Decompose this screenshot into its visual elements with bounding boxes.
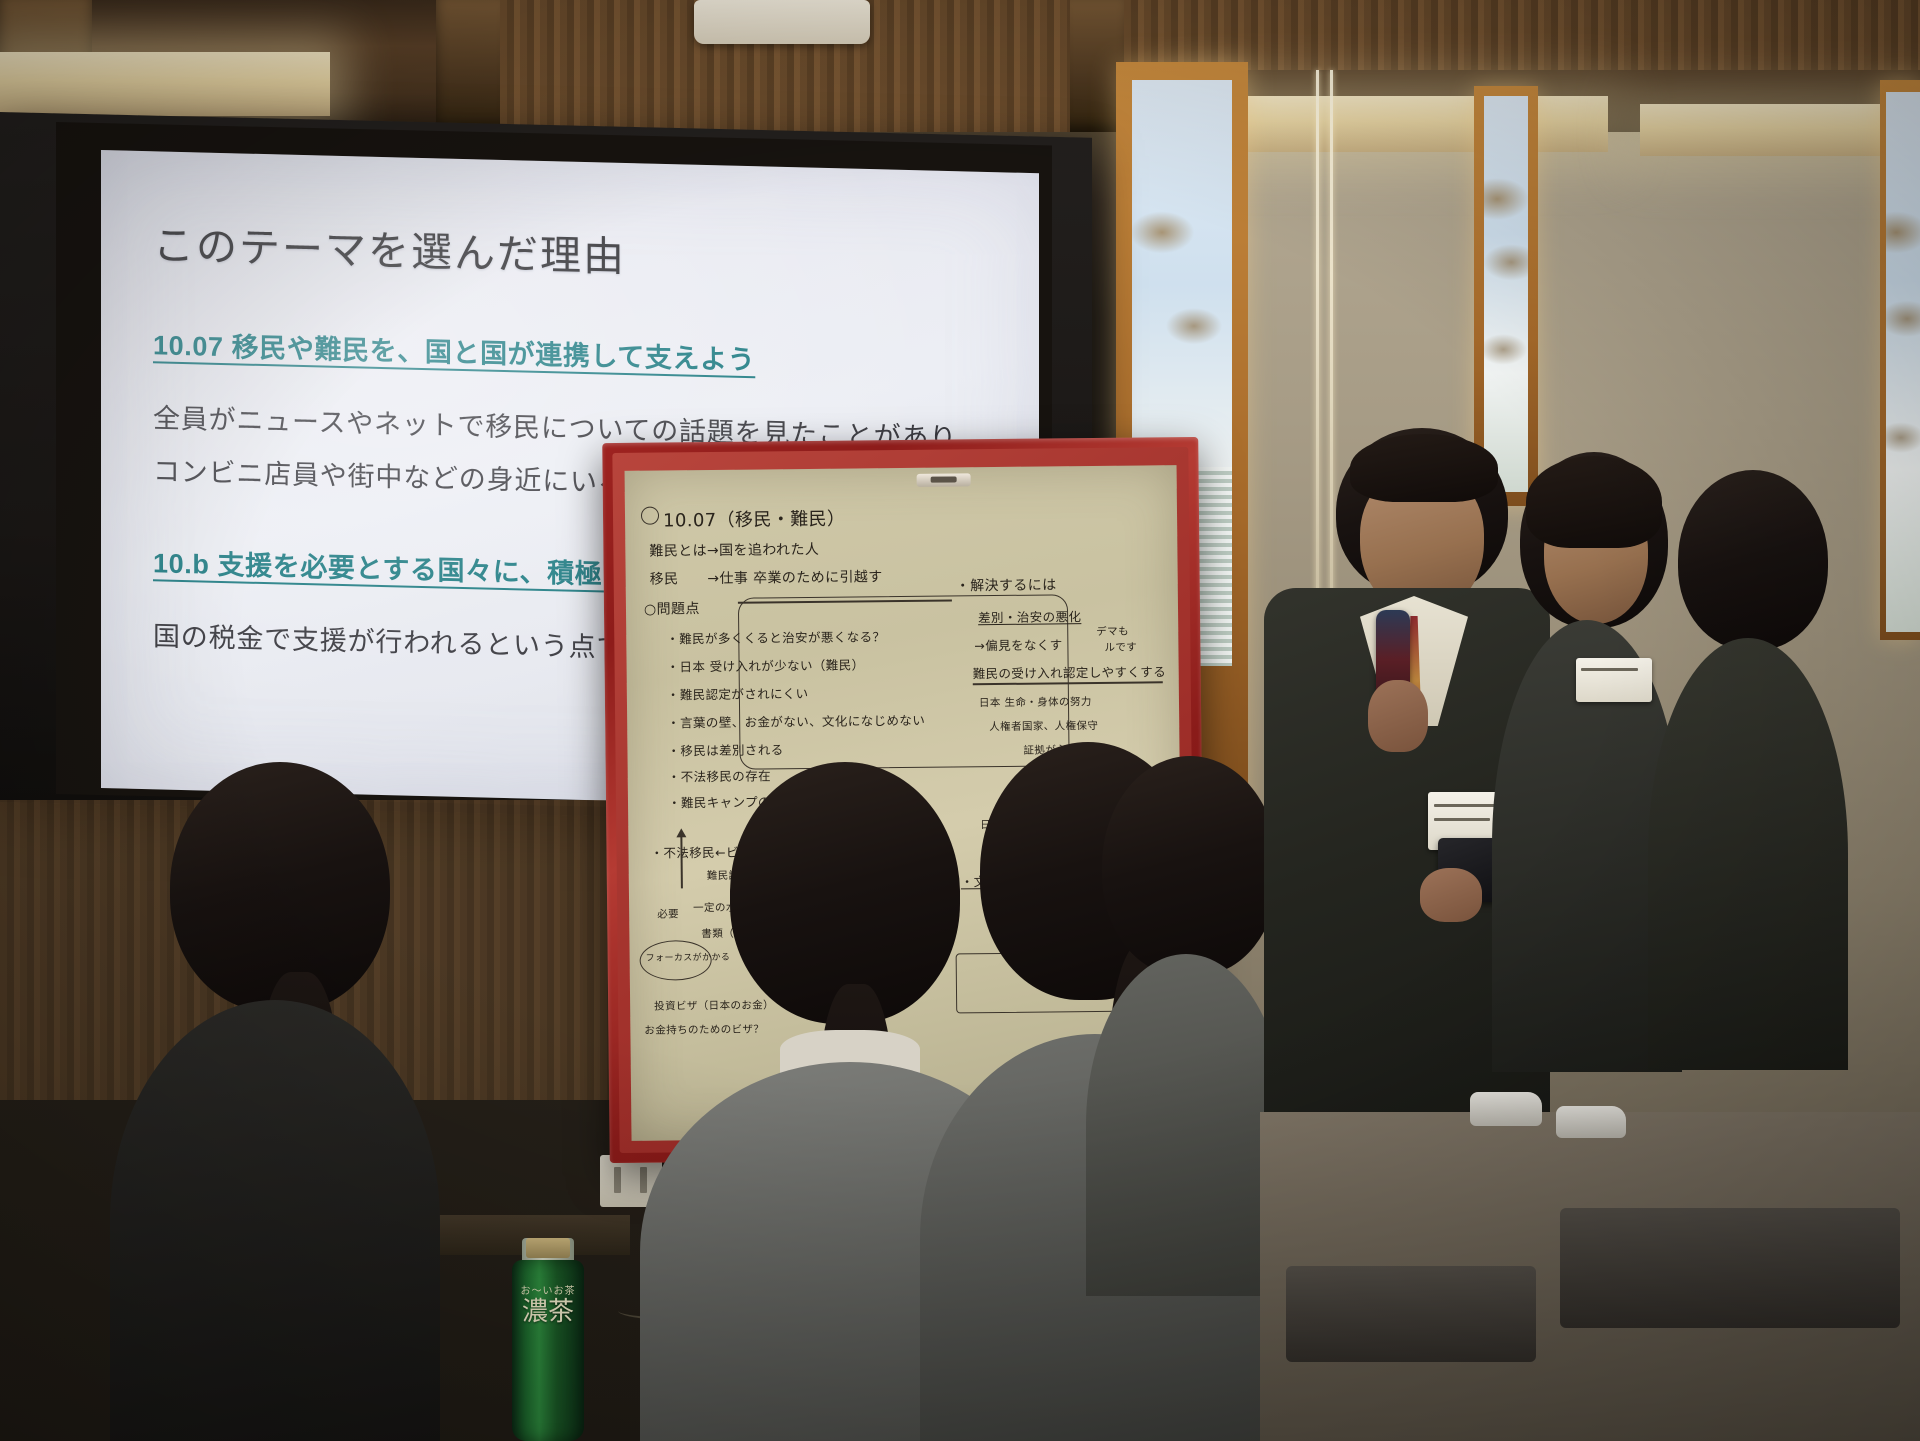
tea-bottle: お〜いお茶 濃茶: [512, 1238, 584, 1441]
bottle-cap: [526, 1238, 569, 1258]
presenter-hand-mic: [1368, 680, 1428, 752]
wb-line-26: 人権者国家、人権保守: [989, 718, 1098, 734]
wb-line-24: 難民の受け入れ認定しやすくする: [973, 661, 1167, 682]
audience-head-1: [170, 762, 390, 1012]
cove-light-right: [1188, 96, 1608, 152]
wb-line-23: ルです: [1104, 640, 1137, 655]
wb-line-7: ・言葉の壁、お金がない、文化になじめない: [667, 710, 925, 732]
audience-shoulders-4: [1086, 954, 1286, 1296]
wb-line-25: 日本 生命・身体の努力: [979, 694, 1092, 710]
audience-member-1: [110, 762, 440, 1441]
audience-head-4: [1102, 756, 1278, 976]
ceiling-vent: [694, 0, 870, 44]
standing-student-3: [1648, 470, 1848, 1070]
wb-line-8: ・移民は差別される: [667, 739, 783, 759]
wb-line-3: ○問題点: [644, 598, 700, 619]
wb-line-22: デマも: [1096, 624, 1129, 639]
chair-back-right: [1560, 1208, 1900, 1328]
wb-title: 10.07（移民・難民）: [663, 505, 846, 533]
standing-student-3-body: [1648, 638, 1848, 1070]
presenter-hair-fringe: [1350, 434, 1498, 502]
audience-shoulders-1: [110, 1000, 440, 1441]
wb-line-20: 差別・治安の悪化: [978, 606, 1081, 626]
chair-back-left: [1286, 1266, 1536, 1362]
badge-2-line-1: [1581, 668, 1639, 671]
presenter-hand-phone: [1420, 868, 1482, 922]
ceiling-panel-right: [1124, 0, 1920, 70]
window-glass-edge: [1886, 92, 1920, 632]
ceiling-beam-mid: [436, 0, 510, 132]
cove-light-left: [0, 52, 330, 116]
wb-title-doodle: [641, 507, 659, 525]
wb-line-4: ・難民が多くくると治安が悪くなる？: [666, 626, 885, 647]
badge-line-2: [1434, 818, 1490, 821]
wb-line-2: 移民 →仕事 卒業のために引越す: [650, 566, 883, 588]
bottle-brand-label: お〜いお茶: [512, 1282, 584, 1297]
presenter-shoe-right: [1556, 1106, 1626, 1138]
standing-student-2-fringe: [1526, 456, 1662, 548]
standing-student-2-badge: [1576, 658, 1652, 702]
wb-line-19: ・解決するには: [956, 574, 1057, 595]
bottle-kanji-label: 濃茶: [512, 1300, 584, 1325]
audience-member-4: [1086, 756, 1286, 1296]
photo-scene: このテーマを選んだ理由 10.07 移民や難民を、国と国が連携して支えよう 全員…: [0, 0, 1920, 1441]
outlet-slot-left: [614, 1167, 621, 1193]
cove-light-far-right: [1640, 104, 1920, 156]
wb-line-6: ・難民認定がされにくい: [667, 683, 809, 703]
wb-line-5: ・日本 受け入れが少ない（難民）: [666, 654, 864, 675]
wb-line-1: 難民とは→国を追われた人: [649, 539, 819, 561]
whiteboard-clip: [917, 473, 971, 487]
window-foliage-edge: [1886, 92, 1920, 632]
standing-student-3-hair: [1678, 470, 1828, 650]
wb-line-21: →偏見をなくす: [974, 634, 1062, 654]
presenter-shoe-left: [1470, 1092, 1542, 1126]
